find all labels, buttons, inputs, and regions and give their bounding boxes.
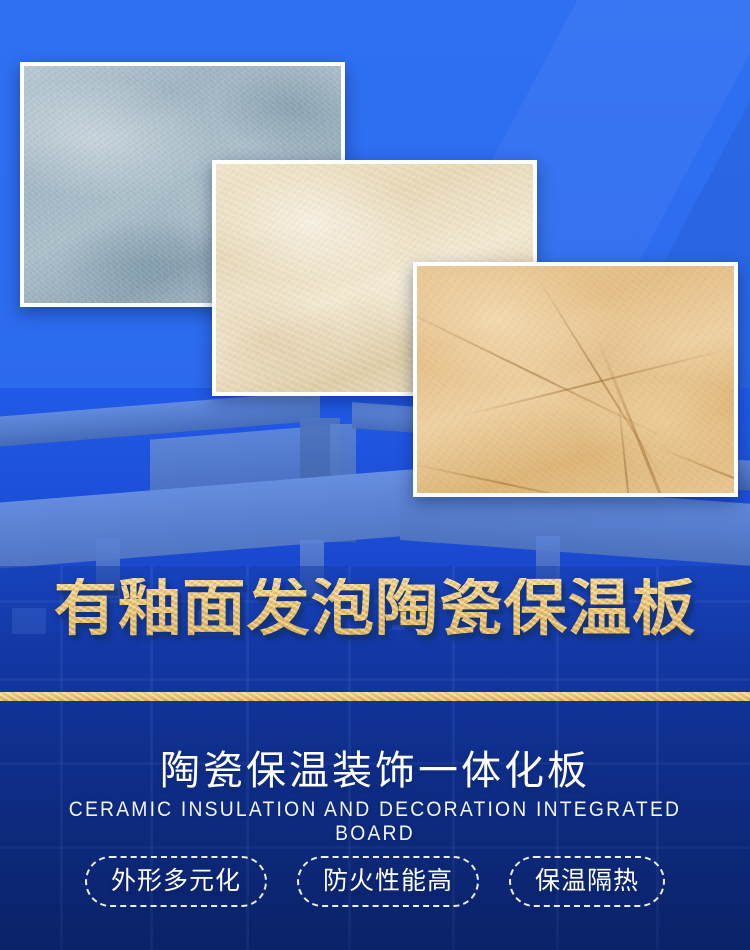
subtitle-english: CERAMIC INSULATION AND DECORATION INTEGR… (30, 798, 720, 846)
subtitle-chinese: 陶瓷保温装饰一体化板 (0, 738, 750, 796)
feature-tag-list: 外形多元化 防火性能高 保温隔热 (0, 856, 750, 907)
feature-tag-insulation[interactable]: 保温隔热 (509, 856, 665, 907)
page-title: 有釉面发泡陶瓷保温板 (54, 578, 697, 640)
product-banner: 有釉面发泡陶瓷保温板 陶瓷保温装饰一体化板 CERAMIC INSULATION… (0, 0, 750, 950)
feature-tag-fireproof[interactable]: 防火性能高 (297, 856, 479, 907)
golden-marble-tile (413, 262, 738, 497)
gold-divider (0, 692, 750, 701)
feature-tag-appearance[interactable]: 外形多元化 (85, 856, 267, 907)
headline-wrap: 有釉面发泡陶瓷保温板 (0, 578, 750, 640)
